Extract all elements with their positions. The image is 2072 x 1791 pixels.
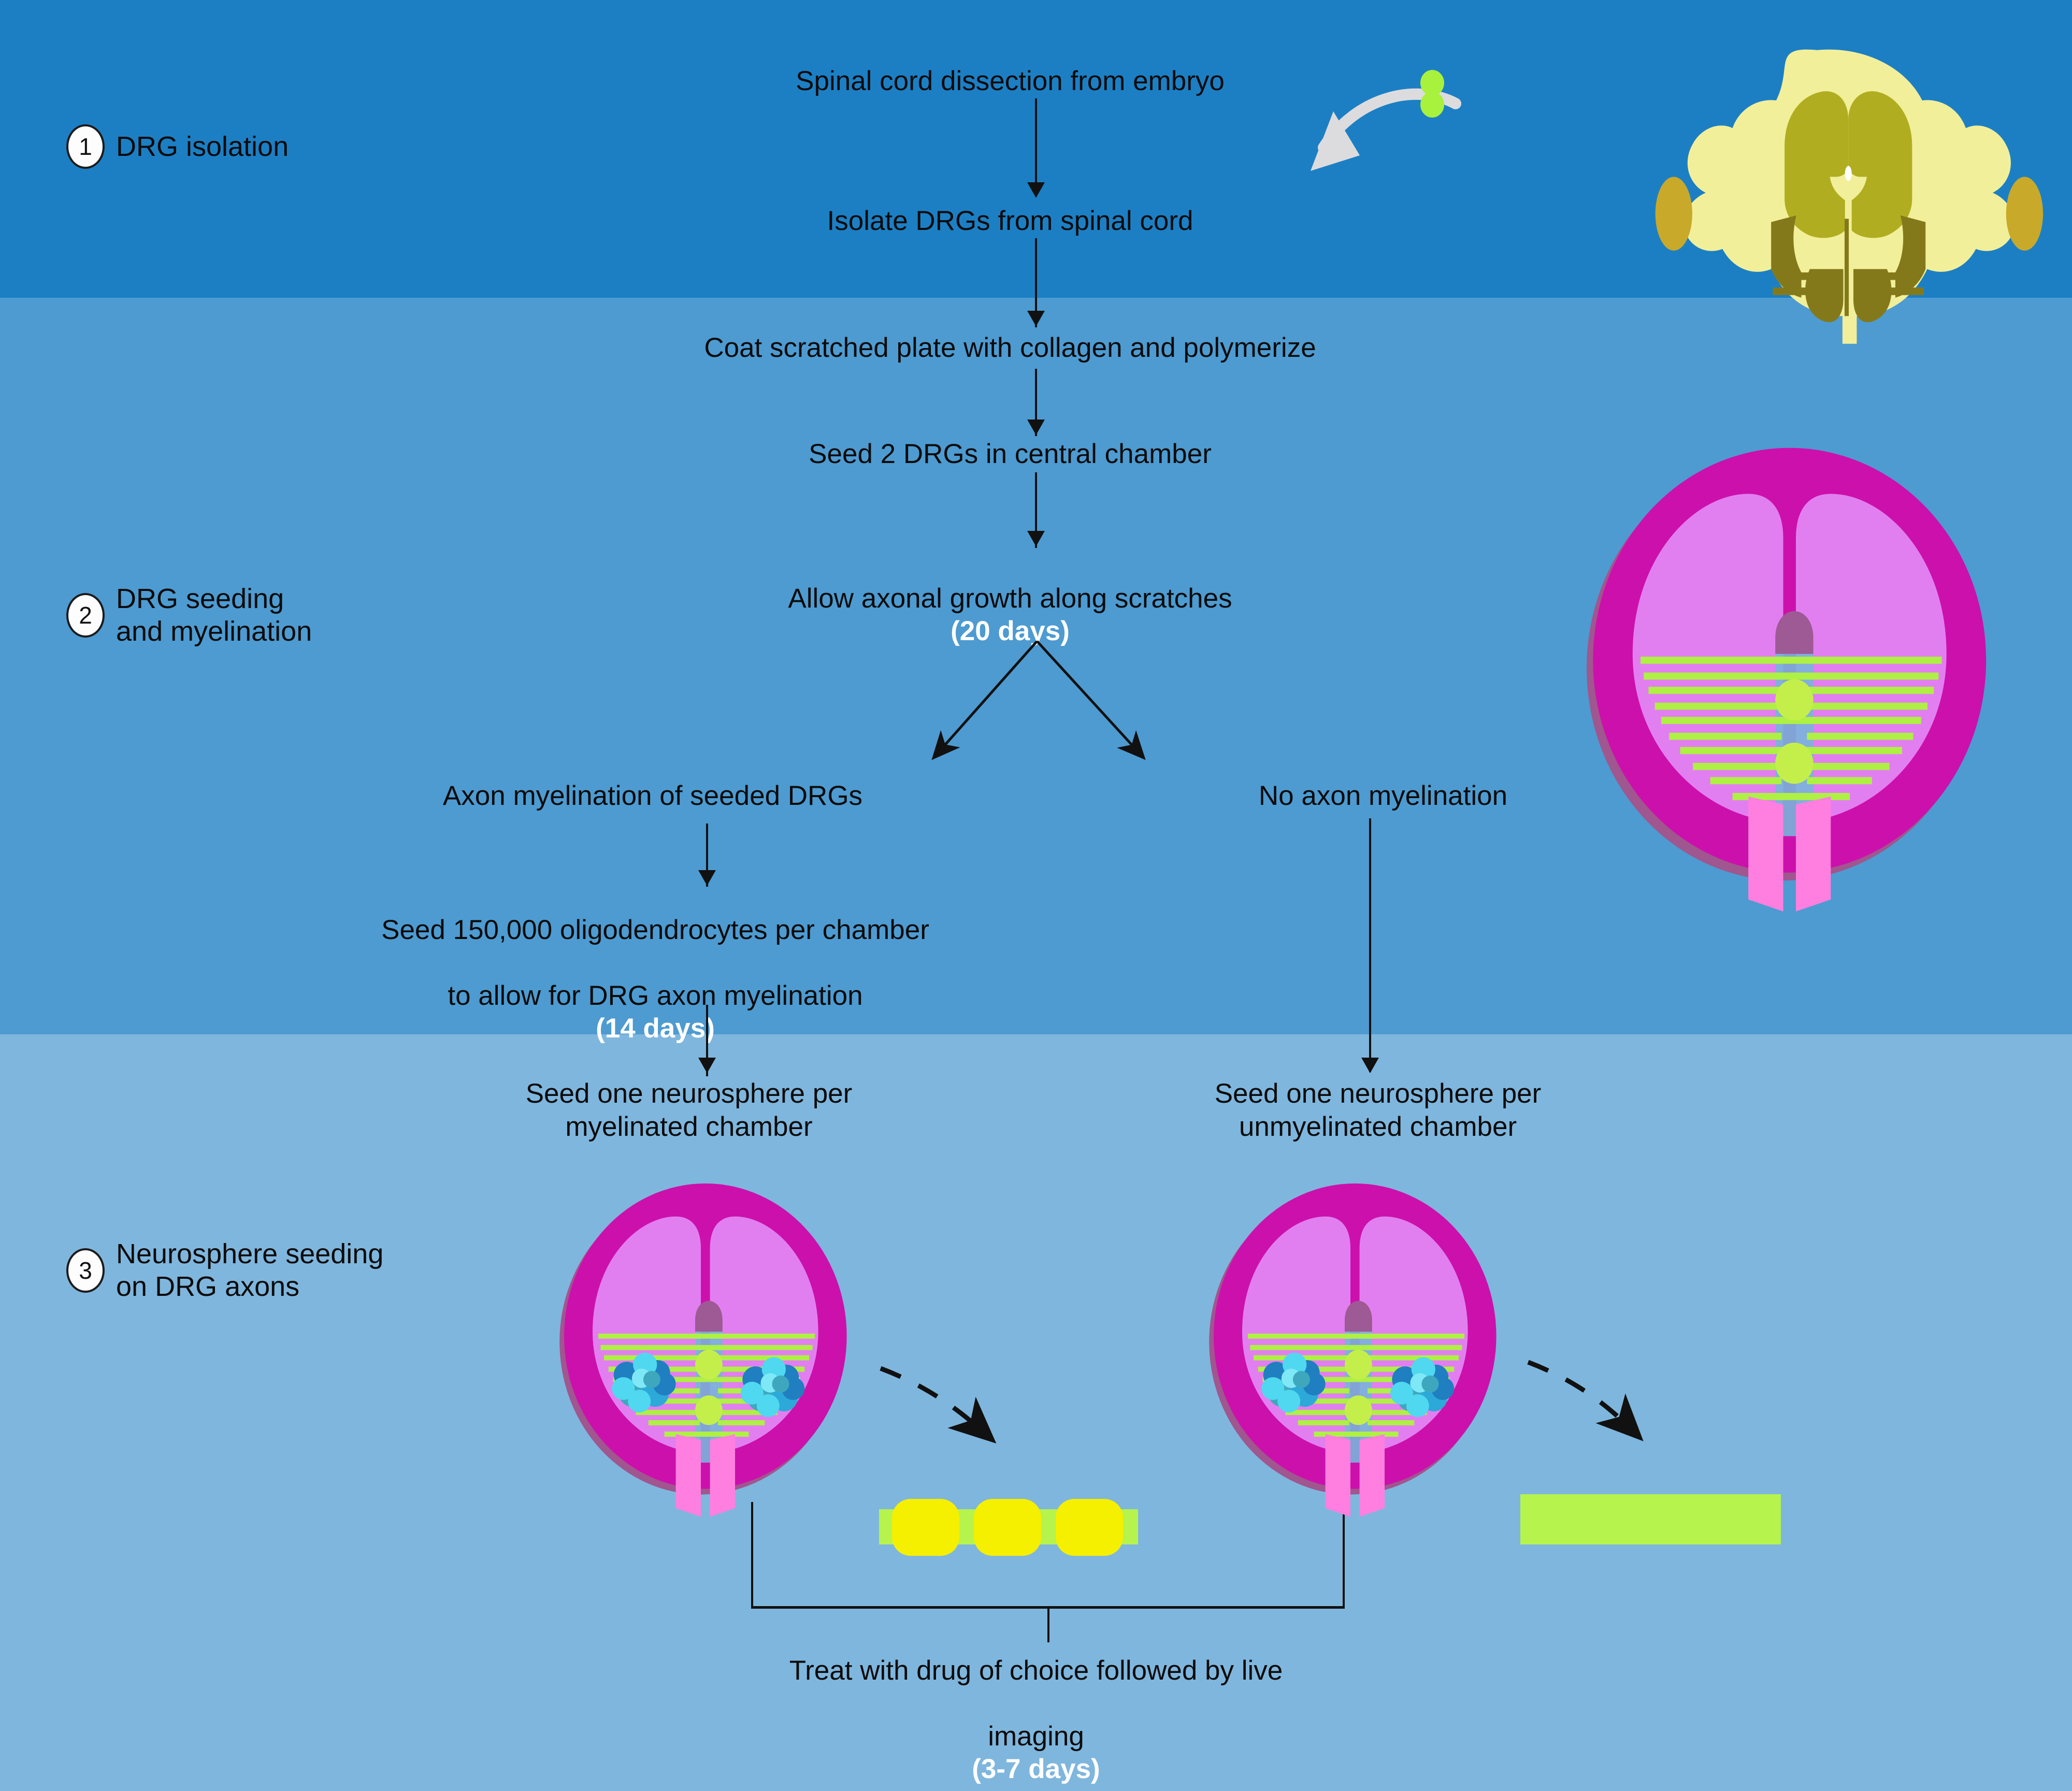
chamber-stub-left [751,1502,753,1534]
step-number-3: 3 [66,1248,105,1293]
flow-text-neurosphere-myelinated: Seed one neurosphere per myelinated cham… [482,1077,896,1143]
flow-text-seed-drgs: Seed 2 DRGs in central chamber [673,438,1347,471]
step-label-2: DRG seeding and myelination [116,583,312,647]
oligo-line-2: to allow for DRG axon myelination [448,980,862,1011]
flow-text-oligodendrocytes: Seed 150,000 oligodendrocytes per chambe… [321,880,989,1078]
flow-text-treat: Treat with drug of choice followed by li… [622,1621,1450,1791]
connector-no-myelination-to-neurosphere [1369,818,1371,1072]
step-label-1: DRG isolation [116,131,289,163]
treat-line-1: Treat with drug of choice followed by li… [789,1655,1283,1686]
step-number-1: 1 [66,124,105,169]
connector-dissection-to-isolate [1035,98,1037,186]
step-label-3: Neurosphere seeding on DRG axons [116,1238,383,1303]
arrowhead-coat [1027,311,1045,326]
flow-text-axonal-growth: Allow axonal growth along scratches (20 … [673,549,1347,681]
arrowhead-neurosphere-unmyelinated [1361,1058,1379,1073]
arrowhead-oligo [698,870,716,886]
step-marker-3: 3 Neurosphere seeding on DRG axons [66,1238,383,1303]
step-marker-1: 1 DRG isolation [66,124,289,169]
bracket-stem [1047,1606,1049,1642]
arrowhead-axonal-growth [1027,531,1045,546]
bracket-right-leg [1343,1533,1345,1607]
oligo-line-1: Seed 150,000 oligodendrocytes per chambe… [381,915,929,945]
flow-text-branch-left: Axon myelination of seeded DRGs [363,779,943,813]
axonal-growth-days: (20 days) [673,615,1347,648]
arrowhead-isolate [1027,182,1045,198]
step-marker-2: 2 DRG seeding and myelination [66,583,312,647]
arrowhead-seed-drgs [1027,420,1045,435]
axonal-growth-label: Allow axonal growth along scratches [788,583,1232,614]
flow-text-coat: Coat scratched plate with collagen and p… [585,331,1435,365]
step-number-2: 2 [66,593,105,638]
oligo-days: (14 days) [321,1012,989,1045]
flow-text-neurosphere-unmyelinated: Seed one neurosphere per unmyelinated ch… [1171,1077,1585,1143]
treat-line-2: imaging [988,1721,1084,1752]
arrowhead-neurosphere-myelinated [698,1058,716,1073]
bracket-left-leg [751,1533,753,1607]
flow-text-dissection: Spinal cord dissection from embryo [673,65,1347,98]
figure-canvas: 1 DRG isolation 2 DRG seeding and myelin… [0,0,2072,1791]
flow-text-branch-right: No axon myelination [1165,779,1601,813]
chamber-stub-right [1343,1502,1345,1534]
flow-text-isolate: Isolate DRGs from spinal cord [673,205,1347,238]
treat-days: (3-7 days) [622,1753,1450,1786]
